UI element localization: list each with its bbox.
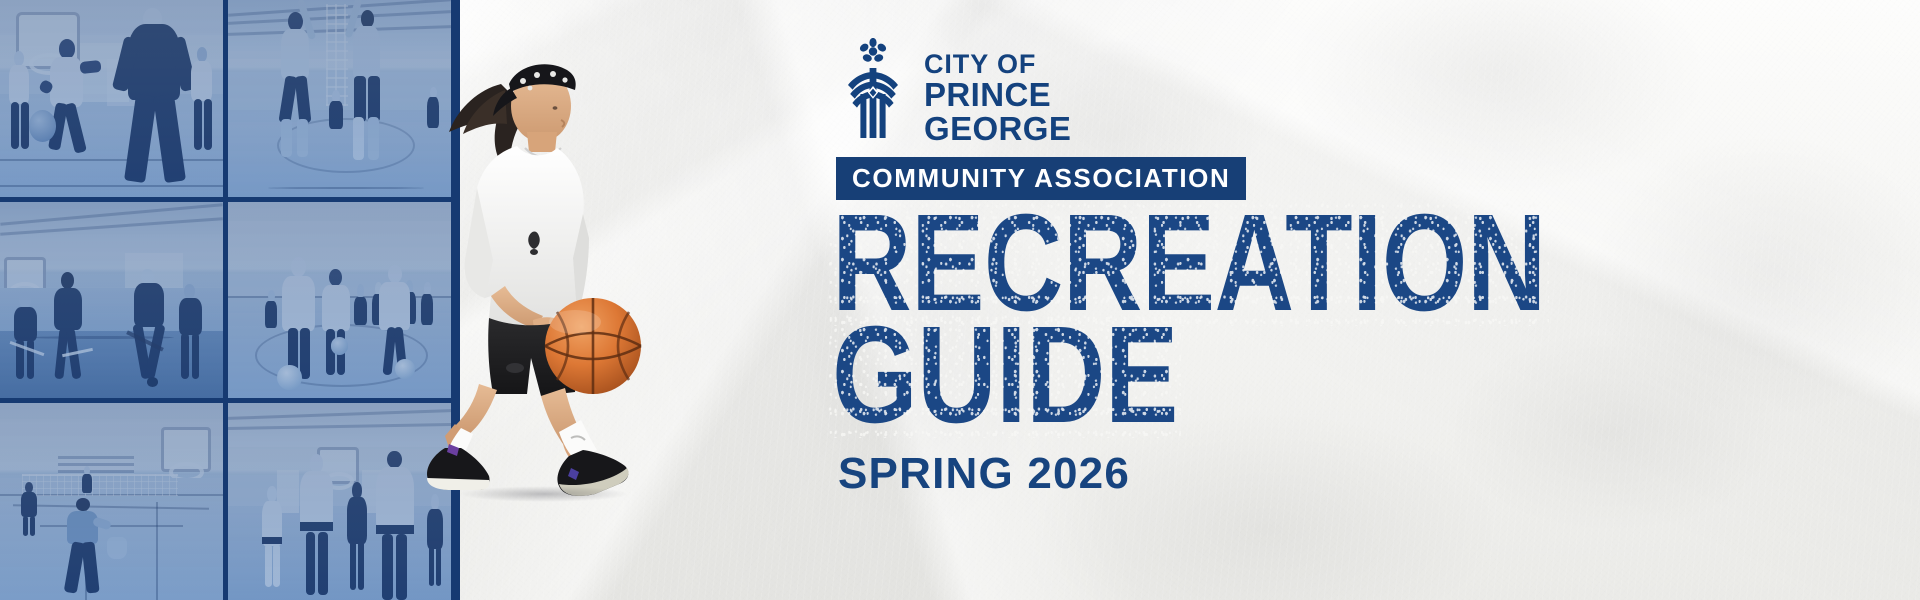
headline-guide: GUIDE: [832, 318, 1178, 434]
wordmark-line-city-of: CITY OF: [924, 50, 1071, 78]
wordmark-line-george: GEORGE: [924, 112, 1071, 146]
girl-dribbling-basketball-photo: [405, 28, 655, 498]
wordmark-line-prince: PRINCE: [924, 78, 1071, 112]
banner-content: CITY OF PRINCE GEORGE COMMUNITY ASSOCIAT…: [836, 0, 1836, 600]
photo-floor-hockey: [0, 202, 223, 399]
photo-pickleball: [0, 403, 223, 600]
headline-guide-text: GUIDE: [832, 318, 1178, 434]
recreation-guide-banner: CITY OF PRINCE GEORGE COMMUNITY ASSOCIAT…: [0, 0, 1920, 600]
city-logo-lockup[interactable]: CITY OF PRINCE GEORGE: [836, 38, 1071, 145]
player-illustration: [405, 28, 655, 498]
player-shadow: [459, 486, 629, 502]
photo-basketball: [0, 0, 223, 197]
city-wordmark: CITY OF PRINCE GEORGE: [924, 38, 1071, 145]
season-label: SPRING 2026: [838, 452, 1130, 496]
recreation-photo-grid: [0, 0, 460, 600]
city-of-prince-george-tree-logo-icon: [836, 38, 910, 138]
